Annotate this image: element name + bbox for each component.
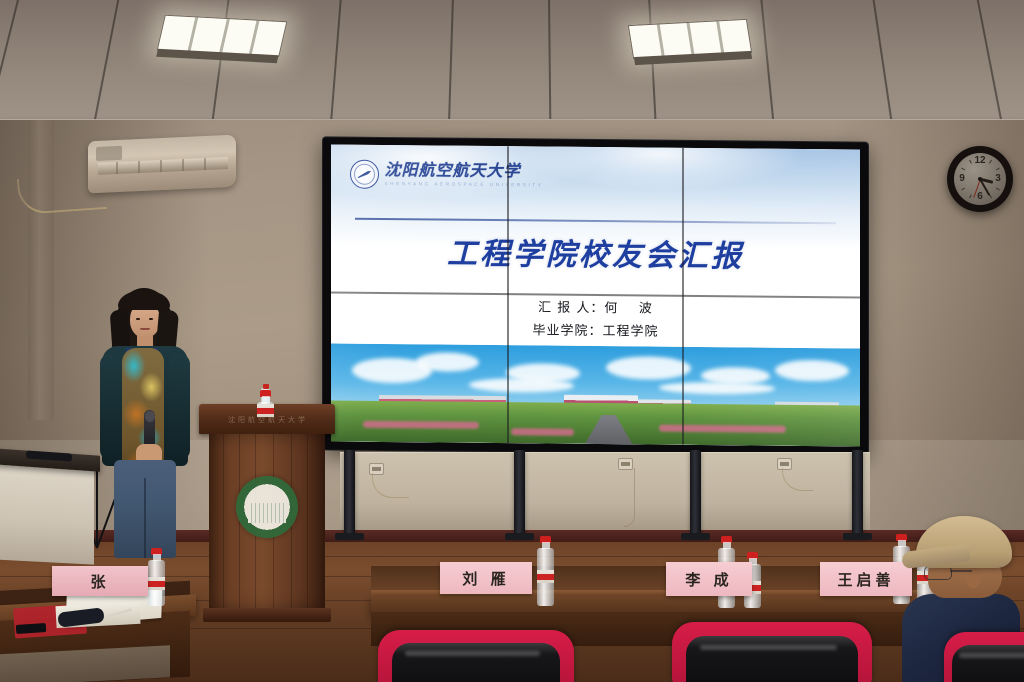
water-bottle [148, 548, 165, 606]
name-card-text: 刘 雁 [462, 568, 509, 589]
name-card: 王启善 [820, 562, 912, 596]
slide-college-line: 毕业学院：工程学院 [331, 319, 860, 347]
emblem-year: 1952 [236, 523, 298, 529]
screen-support-post-mid1 [514, 450, 525, 536]
ceiling [0, 0, 1024, 128]
screen-support-post-left [344, 450, 355, 536]
screen-support-post-mid2 [690, 450, 701, 536]
conference-room-photo: 12 3 6 9 沈阳航空航天大学 SHENYANG AEROSPACE UNI… [0, 0, 1024, 682]
screen-back-panel-1 [340, 452, 518, 530]
wall-pillar [28, 120, 54, 420]
eyeglasses [924, 566, 952, 580]
presenter-woman [92, 288, 196, 558]
clock-number-3: 3 [992, 173, 1004, 184]
chair [944, 632, 1024, 682]
lectern-emblem: 1952 [236, 476, 298, 538]
name-card-text: 王启善 [837, 569, 894, 590]
video-wall-display[interactable]: 沈阳航空航天大学 SHENYANG AEROSPACE UNIVERSITY 工… [323, 137, 868, 454]
name-card-text: 张 [90, 571, 109, 592]
slide-title: 工程学院校友会汇报 [331, 228, 860, 277]
presentation-slide: 沈阳航空航天大学 SHENYANG AEROSPACE UNIVERSITY 工… [331, 144, 860, 446]
lectern: 沈阳航空航天大学 1952 [203, 404, 331, 622]
name-card: 刘 雁 [440, 562, 532, 594]
university-logo: 沈阳航空航天大学 SHENYANG AEROSPACE UNIVERSITY [350, 159, 544, 190]
ac-cable [17, 173, 107, 215]
university-crest-icon [350, 159, 379, 188]
clock-number-12: 12 [974, 155, 986, 166]
university-name-cn: 沈阳航空航天大学 [385, 162, 544, 180]
name-card: 张 [52, 566, 148, 596]
chair [378, 630, 574, 682]
name-card: 李 成 [666, 562, 752, 596]
presenter-jeans [114, 460, 176, 558]
screen-support-post-right [852, 450, 863, 536]
university-name-en: SHENYANG AEROSPACE UNIVERSITY [385, 181, 544, 188]
chair [672, 622, 872, 682]
air-conditioner [88, 135, 236, 194]
clock-number-9: 9 [956, 173, 968, 184]
campus-panorama-photo [331, 343, 860, 446]
ceiling-light-right [628, 19, 752, 59]
water-bottle [257, 390, 274, 408]
outlet-cable-2 [624, 468, 635, 527]
name-card-text: 李 成 [685, 569, 732, 590]
water-bottle [537, 536, 554, 606]
ceiling-light-left [157, 15, 288, 57]
side-cabinet [0, 461, 94, 564]
wall-clock: 12 3 6 9 [947, 146, 1013, 212]
lectern-base [203, 608, 331, 622]
slide-subtitle-block: 汇 报 人：何 波 毕业学院：工程学院 [331, 296, 860, 347]
screen-back-panel-2 [524, 452, 694, 530]
